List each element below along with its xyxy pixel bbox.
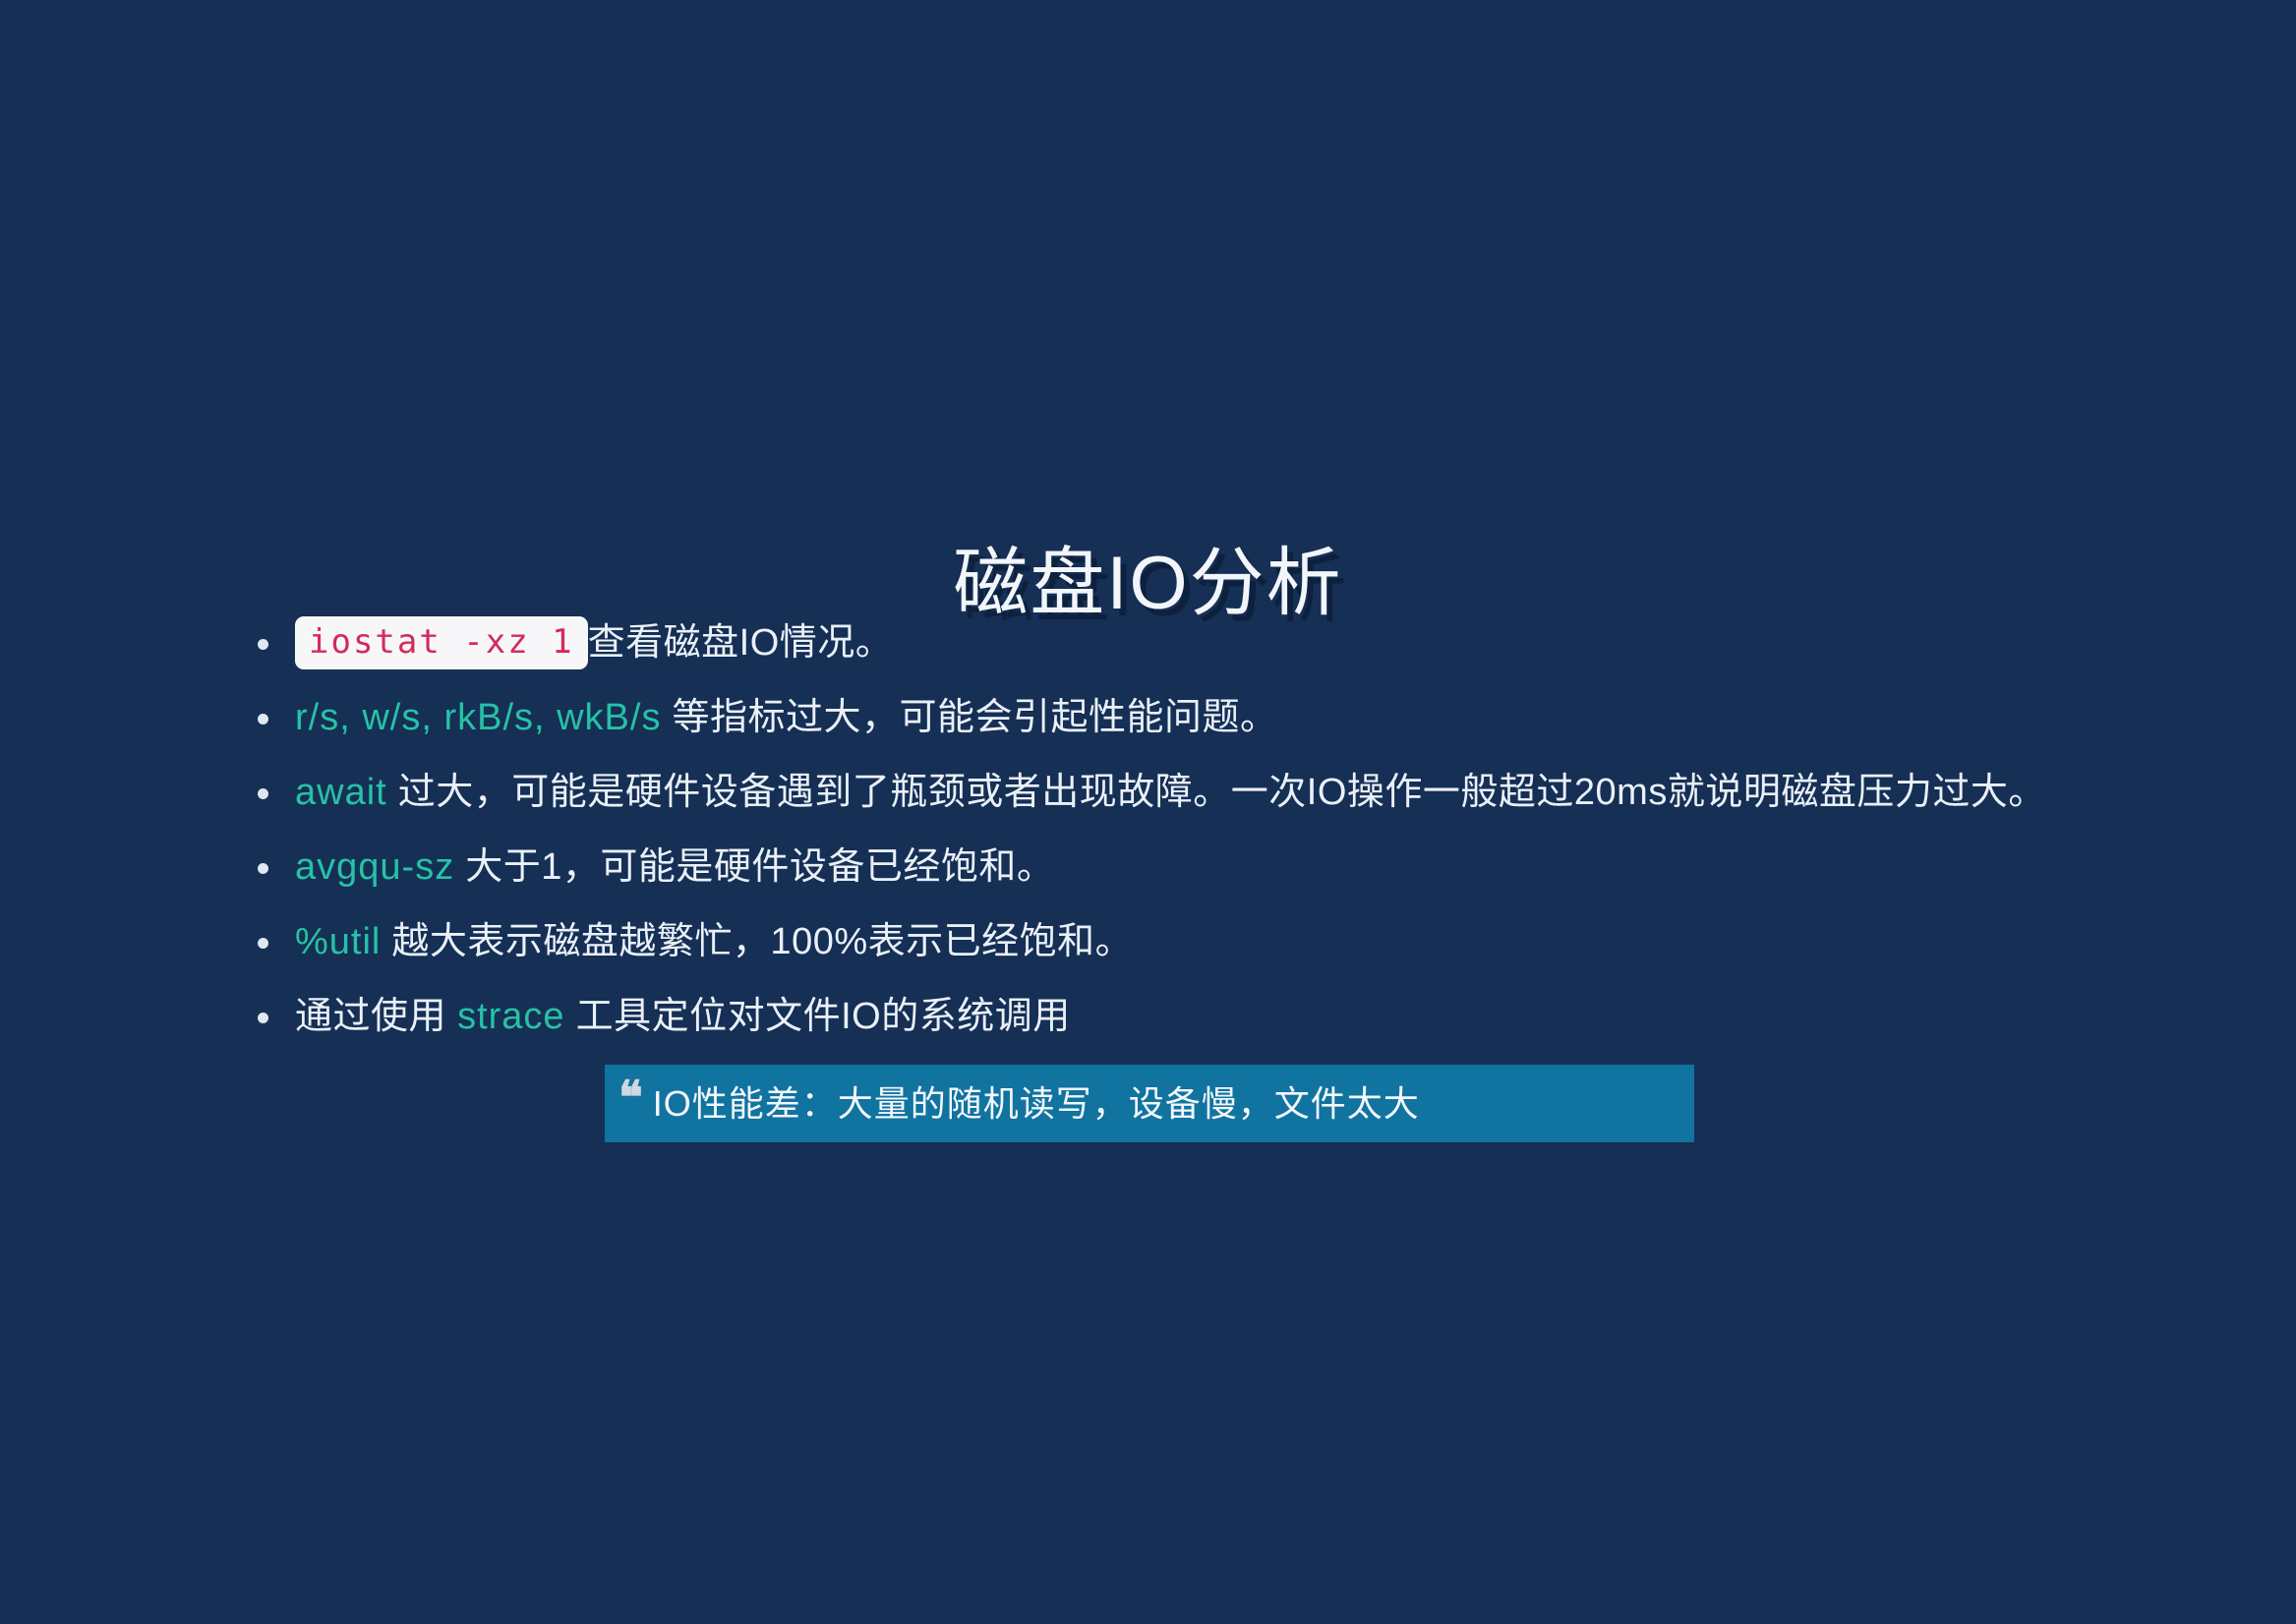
inline-code-await: await	[295, 772, 387, 813]
list-item-text: 过大，可能是硬件设备遇到了瓶颈或者出现故障。一次IO操作一般超过20ms就说明磁…	[387, 772, 2046, 813]
list-item-text: 大于1，可能是硬件设备已经饱和。	[454, 846, 1054, 888]
bullet-dot-icon	[258, 938, 268, 949]
bullet-list: iostat -xz 1查看磁盘IO情况。 r/s, w/s, rkB/s, w…	[248, 611, 2077, 1048]
inline-code-strace: strace	[457, 996, 564, 1037]
list-item-text: 工具定位对文件IO的系统调用	[565, 996, 1071, 1037]
list-item-text-prefix: 通过使用	[295, 996, 457, 1037]
list-item: 通过使用 strace 工具定位对文件IO的系统调用	[248, 985, 2077, 1048]
quote-callout: ❝ IO性能差：大量的随机读写，设备慢，文件太大	[605, 1065, 1694, 1142]
bullet-dot-icon	[258, 1013, 268, 1023]
quote-text: IO性能差：大量的随机读写，设备慢，文件太大	[653, 1084, 1420, 1124]
list-item: r/s, w/s, rkB/s, wkB/s 等指标过大，可能会引起性能问题。	[248, 686, 2077, 749]
bullet-dot-icon	[258, 714, 268, 725]
list-item: avgqu-sz 大于1，可能是硬件设备已经饱和。	[248, 836, 2077, 899]
page-title: 磁盘IO分析	[0, 547, 2296, 621]
inline-code-metrics: r/s, w/s, rkB/s, wkB/s	[295, 697, 661, 738]
bullet-dot-icon	[258, 863, 268, 874]
slide-canvas: 磁盘IO分析 iostat -xz 1查看磁盘IO情况。 r/s, w/s, r…	[0, 0, 2296, 1624]
list-item: %util 越大表示磁盘越繁忙，100%表示已经饱和。	[248, 910, 2077, 973]
list-item-text: 查看磁盘IO情况。	[588, 622, 894, 664]
bullet-dot-icon	[258, 788, 268, 799]
list-item-text: 越大表示磁盘越繁忙，100%表示已经饱和。	[381, 921, 1133, 962]
bullet-dot-icon	[258, 639, 268, 650]
code-chip-iostat: iostat -xz 1	[295, 616, 588, 669]
quote-mark-icon: ❝	[618, 1074, 643, 1120]
list-item: await 过大，可能是硬件设备遇到了瓶颈或者出现故障。一次IO操作一般超过20…	[248, 761, 2077, 824]
list-item-text: 等指标过大，可能会引起性能问题。	[661, 697, 1277, 738]
inline-code-avgqu-sz: avgqu-sz	[295, 846, 454, 888]
inline-code-util: %util	[295, 921, 381, 962]
list-item: iostat -xz 1查看磁盘IO情况。	[248, 611, 2077, 674]
